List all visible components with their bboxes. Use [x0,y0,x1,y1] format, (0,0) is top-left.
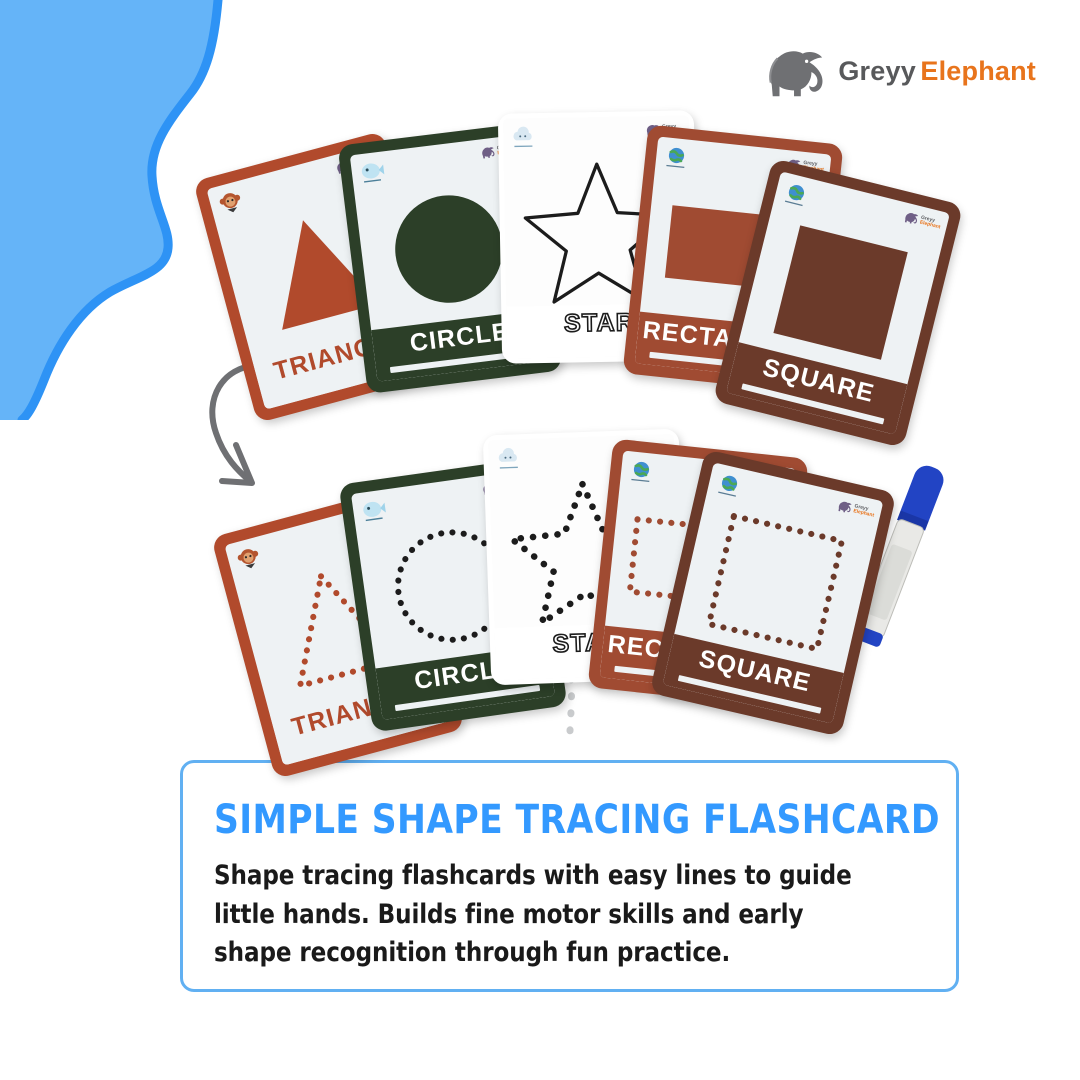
earth-icon [627,457,656,486]
greyy-elephant-icon: GreyyElephant [836,498,876,519]
page-title: SIMPLE SHAPE TRACING FLASHCARD [214,797,894,843]
fish-icon [359,496,388,525]
greyy-elephant-icon: GreyyElephant [902,210,942,232]
earth-icon [780,179,812,211]
earth-icon [713,470,744,501]
poster-canvas: Greyy Elephant GreyyElephantTRIANGLE Gre… [0,0,1080,1080]
cloud-icon [495,445,522,472]
earth-icon [662,143,691,172]
cloud-icon [510,124,536,150]
description-text: Shape tracing flashcards with easy lines… [214,857,887,973]
monkey-icon [215,187,247,219]
monkey-icon [233,543,265,575]
fish-icon [357,157,386,186]
description-panel: SIMPLE SHAPE TRACING FLASHCARD Shape tra… [180,760,959,992]
